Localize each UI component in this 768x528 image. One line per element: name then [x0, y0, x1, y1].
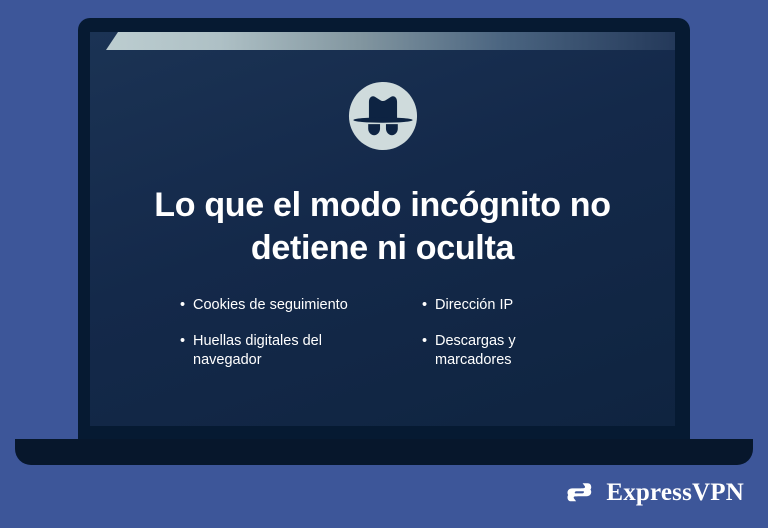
laptop-bezel: Lo que el modo incógnito no detiene ni o…: [78, 18, 690, 440]
list-item: • Cookies de seguimiento: [180, 296, 380, 316]
browser-window-bar: [90, 32, 675, 50]
laptop-screen: Lo que el modo incógnito no detiene ni o…: [90, 32, 675, 426]
list-item: • Dirección IP: [422, 296, 592, 316]
left-column: • Cookies de seguimiento • Huellas digit…: [180, 296, 380, 371]
bullet-dot-icon: •: [180, 332, 185, 352]
bullet-columns: • Cookies de seguimiento • Huellas digit…: [180, 296, 610, 371]
list-item: • Huellas digitales del navegador: [180, 332, 380, 371]
bullet-dot-icon: •: [422, 332, 427, 352]
list-item-label: Dirección IP: [435, 297, 513, 313]
list-item-label: Cookies de seguimiento: [193, 297, 348, 313]
list-item-label: Huellas digitales del navegador: [193, 333, 322, 369]
incognito-icon: [346, 79, 420, 153]
bullet-dot-icon: •: [422, 296, 427, 316]
slide-title: Lo que el modo incógnito no detiene ni o…: [120, 184, 645, 269]
brand-name: ExpressVPN: [606, 479, 744, 507]
right-column: • Dirección IP • Descargas y marcadores: [422, 296, 592, 371]
list-item: • Descargas y marcadores: [422, 332, 592, 371]
expressvpn-logo-icon: [561, 475, 597, 511]
list-item-label: Descargas y marcadores: [435, 333, 516, 369]
brand-logo: ExpressVPN: [561, 475, 744, 511]
laptop-base: [15, 439, 753, 465]
incognito-icon-wrap: [90, 79, 675, 153]
bullet-dot-icon: •: [180, 296, 185, 316]
slide-canvas: Lo que el modo incógnito no detiene ni o…: [0, 0, 768, 528]
